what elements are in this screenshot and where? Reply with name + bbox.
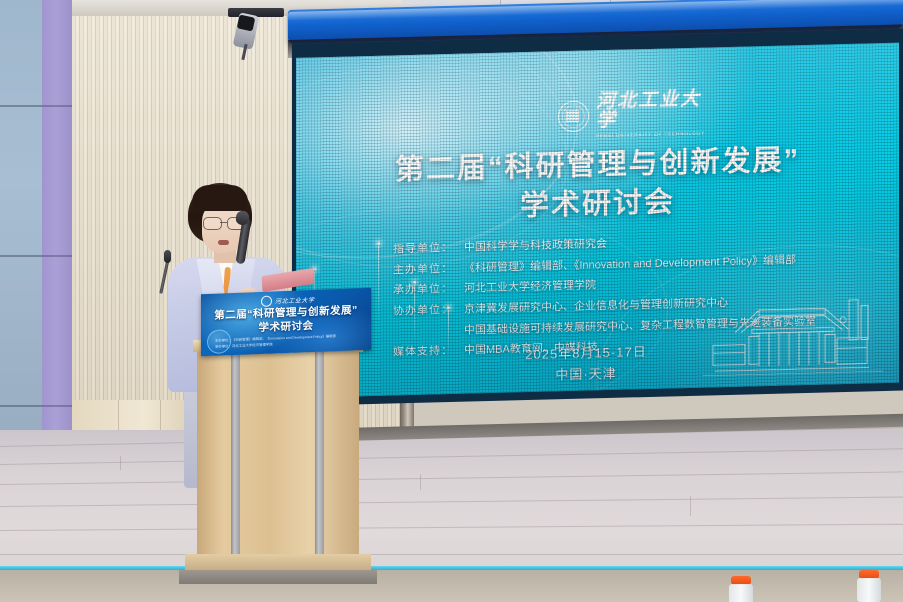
organiser-label: 协办单位： [393, 300, 455, 322]
university-name-en: HEBEI UNIVERSITY OF TECHNOLOGY [596, 130, 708, 138]
podium-university-name: 河北工业大学 [275, 295, 315, 306]
led-screen: 河北工业大学 HEBEI UNIVERSITY OF TECHNOLOGY 第二… [296, 43, 899, 398]
gooseneck-microphone-head[interactable] [164, 250, 171, 263]
organiser-label: 指导单位： [393, 238, 455, 260]
bottle-body [729, 584, 753, 602]
podium-sign: 河北工业大学 第二届“科研管理与创新发展” 学术研讨会 主办单位：《科研管理》编… [201, 288, 371, 357]
podium: 河北工业大学 第二届“科研管理与创新发展” 学术研讨会 主办单位：《科研管理》编… [183, 282, 373, 582]
podium-body [197, 348, 359, 560]
campus-gate-icon [697, 271, 887, 384]
conference-photo-scene: 河北工业大学 HEBEI UNIVERSITY OF TECHNOLOGY 第二… [0, 0, 903, 602]
screen-event-title-line1: 第二届“科研管理与创新发展” [395, 144, 800, 186]
university-name-cn: 河北工业大学 [596, 89, 708, 130]
screen-date-location: 2025年8月15-17日 中国·天津 [446, 339, 726, 389]
university-seal-icon [558, 100, 589, 132]
screen-event-title: 第二届“科研管理与创新发展” 学术研讨会 [296, 139, 899, 233]
university-seal-icon [261, 296, 272, 307]
stage-front-face [0, 570, 903, 602]
water-bottle [728, 576, 754, 602]
led-screen-frame: 河北工业大学 HEBEI UNIVERSITY OF TECHNOLOGY 第二… [292, 29, 903, 406]
presenter-mouth [218, 240, 229, 245]
screen-university-logo: 河北工业大学 HEBEI UNIVERSITY OF TECHNOLOGY [558, 95, 708, 133]
organiser-label: 承办单位： [393, 279, 455, 301]
presenter-hair-fringe [192, 185, 248, 211]
podium-plinth [179, 570, 377, 584]
water-bottle [856, 570, 882, 600]
screen-event-title-line2: 学术研讨会 [296, 178, 899, 233]
bottle-body [857, 578, 881, 602]
organiser-label: 主办单位： [393, 259, 455, 281]
spotlight-lens [237, 14, 256, 31]
